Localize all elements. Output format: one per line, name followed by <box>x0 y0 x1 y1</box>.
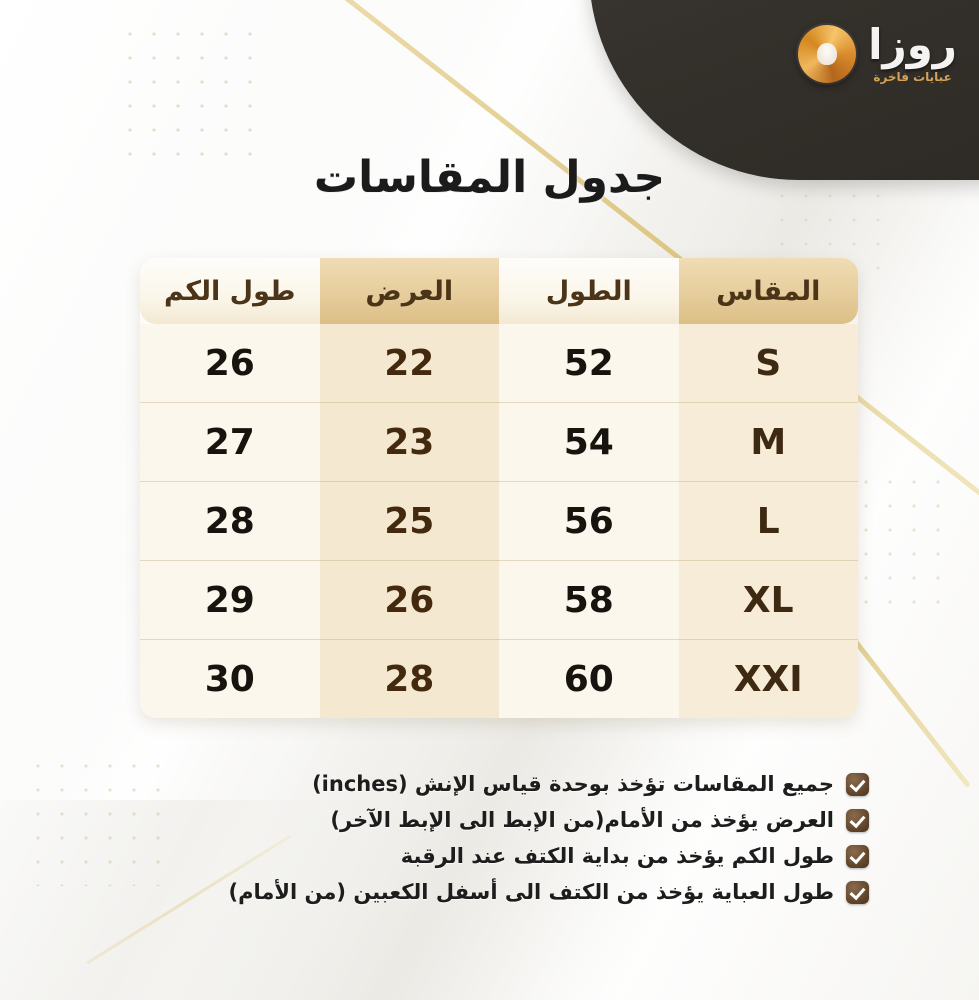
note-text: العرض يؤخذ من الأمام(من الإبط الى الإبط … <box>330 808 834 832</box>
table-row: S 52 22 26 <box>140 324 858 403</box>
column-header-width: العرض <box>320 258 500 324</box>
column-header-size: المقاس <box>679 258 859 324</box>
check-badge-icon <box>846 809 869 832</box>
note-item-2: العرض يؤخذ من الأمام(من الإبط الى الإبط … <box>110 808 869 832</box>
note-item-3: طول الكم يؤخذ من بداية الكتف عند الرقبة <box>110 844 869 868</box>
table-row: L 56 25 28 <box>140 482 858 561</box>
dot-pattern-top-left <box>118 22 268 172</box>
cell-length: 54 <box>499 403 679 482</box>
page-title: جدول المقاسات <box>0 152 979 203</box>
note-item-4: طول العباية يؤخذ من الكتف الى أسفل الكعب… <box>110 880 869 904</box>
table-row: M 54 23 27 <box>140 403 858 482</box>
cell-size: S <box>679 324 859 403</box>
note-text: طول الكم يؤخذ من بداية الكتف عند الرقبة <box>401 844 834 868</box>
rose-swirl-icon <box>798 25 856 83</box>
brand-logo-text: روزا عبايات فاخرة <box>868 24 957 83</box>
cell-width: 25 <box>320 482 500 561</box>
cell-size: M <box>679 403 859 482</box>
cell-sleeve: 30 <box>140 640 320 719</box>
size-table: المقاس الطول العرض طول الكم S 52 22 26 M… <box>140 258 858 718</box>
note-text: طول العباية يؤخذ من الكتف الى أسفل الكعب… <box>228 880 834 904</box>
cell-size: L <box>679 482 859 561</box>
cell-width: 26 <box>320 561 500 640</box>
size-table-head: المقاس الطول العرض طول الكم <box>140 258 858 324</box>
note-text: جميع المقاسات تؤخذ بوحدة قياس الإنش (inc… <box>312 772 834 796</box>
check-badge-icon <box>846 845 869 868</box>
cell-sleeve: 26 <box>140 324 320 403</box>
cell-length: 58 <box>499 561 679 640</box>
brand-name: روزا <box>868 24 957 66</box>
notes-list: جميع المقاسات تؤخذ بوحدة قياس الإنش (inc… <box>110 772 869 916</box>
cell-length: 60 <box>499 640 679 719</box>
table-row: XL 58 26 29 <box>140 561 858 640</box>
cell-size: XXI <box>679 640 859 719</box>
cell-length: 52 <box>499 324 679 403</box>
cell-sleeve: 28 <box>140 482 320 561</box>
brand-logo: روزا عبايات فاخرة <box>798 24 957 83</box>
note-item-1: جميع المقاسات تؤخذ بوحدة قياس الإنش (inc… <box>110 772 869 796</box>
size-table-element: المقاس الطول العرض طول الكم S 52 22 26 M… <box>140 258 858 718</box>
cell-length: 56 <box>499 482 679 561</box>
cell-size: XL <box>679 561 859 640</box>
cell-sleeve: 27 <box>140 403 320 482</box>
size-table-body: S 52 22 26 M 54 23 27 L 56 25 28 <box>140 324 858 718</box>
cell-width: 23 <box>320 403 500 482</box>
column-header-length: الطول <box>499 258 679 324</box>
check-badge-icon <box>846 773 869 796</box>
table-header-row: المقاس الطول العرض طول الكم <box>140 258 858 324</box>
cell-width: 22 <box>320 324 500 403</box>
cell-width: 28 <box>320 640 500 719</box>
brand-tagline: عبايات فاخرة <box>873 71 951 83</box>
size-chart-infographic: روزا عبايات فاخرة جدول المقاسات المقاس ا… <box>0 0 979 1000</box>
cell-sleeve: 29 <box>140 561 320 640</box>
column-header-sleeve: طول الكم <box>140 258 320 324</box>
table-row: XXI 60 28 30 <box>140 640 858 719</box>
check-badge-icon <box>846 881 869 904</box>
